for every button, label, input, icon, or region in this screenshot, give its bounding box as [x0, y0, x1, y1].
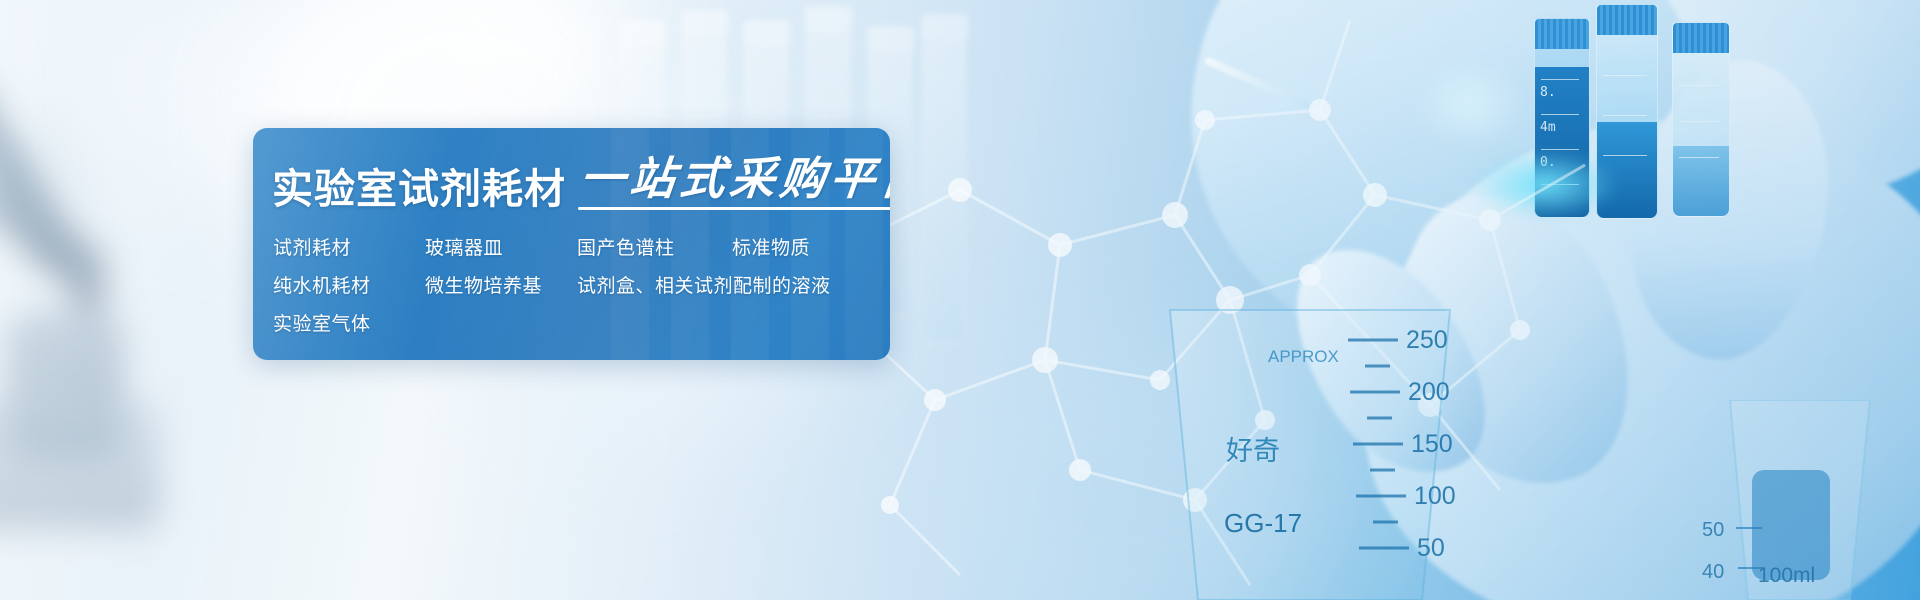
- category-link-reagent-consumables[interactable]: 试剂耗材: [273, 239, 425, 258]
- category-link-domestic-chromatography-columns[interactable]: 国产色谱柱: [577, 239, 732, 258]
- category-link-reference-materials[interactable]: 标准物质: [732, 239, 810, 258]
- category-link-microbial-culture-media[interactable]: 微生物培养基: [425, 277, 577, 296]
- category-link-laboratory-gases[interactable]: 实验室气体: [273, 315, 425, 334]
- hero-banner: 8. 4m 0.: [0, 0, 1920, 600]
- category-list: 试剂耗材 玻璃器皿 国产色谱柱 标准物质 纯水机耗材 微生物培养基 试剂盒、相关…: [273, 229, 878, 343]
- category-row: 试剂耗材 玻璃器皿 国产色谱柱 标准物质: [273, 229, 878, 267]
- title-main-text: 实验室试剂耗材: [272, 169, 566, 210]
- category-link-glassware[interactable]: 玻璃器皿: [425, 239, 577, 258]
- category-link-reagent-kits-and-solutions[interactable]: 试剂盒、相关试剂配制的溶液: [577, 277, 831, 296]
- promo-panel: 实验室试剂耗材 一站式采购平台 试剂耗材 玻璃器皿 国产色谱柱 标准物质 纯水机…: [253, 128, 890, 360]
- title-script-wrapper: 一站式采购平台: [580, 156, 890, 210]
- panel-title: 实验室试剂耗材 一站式采购平台: [272, 156, 880, 210]
- title-script-text: 一站式采购平台: [578, 156, 890, 201]
- title-underline: [578, 207, 890, 210]
- category-row: 实验室气体: [273, 305, 878, 343]
- category-link-water-purifier-consumables[interactable]: 纯水机耗材: [273, 277, 425, 296]
- category-row: 纯水机耗材 微生物培养基 试剂盒、相关试剂配制的溶液: [273, 267, 878, 305]
